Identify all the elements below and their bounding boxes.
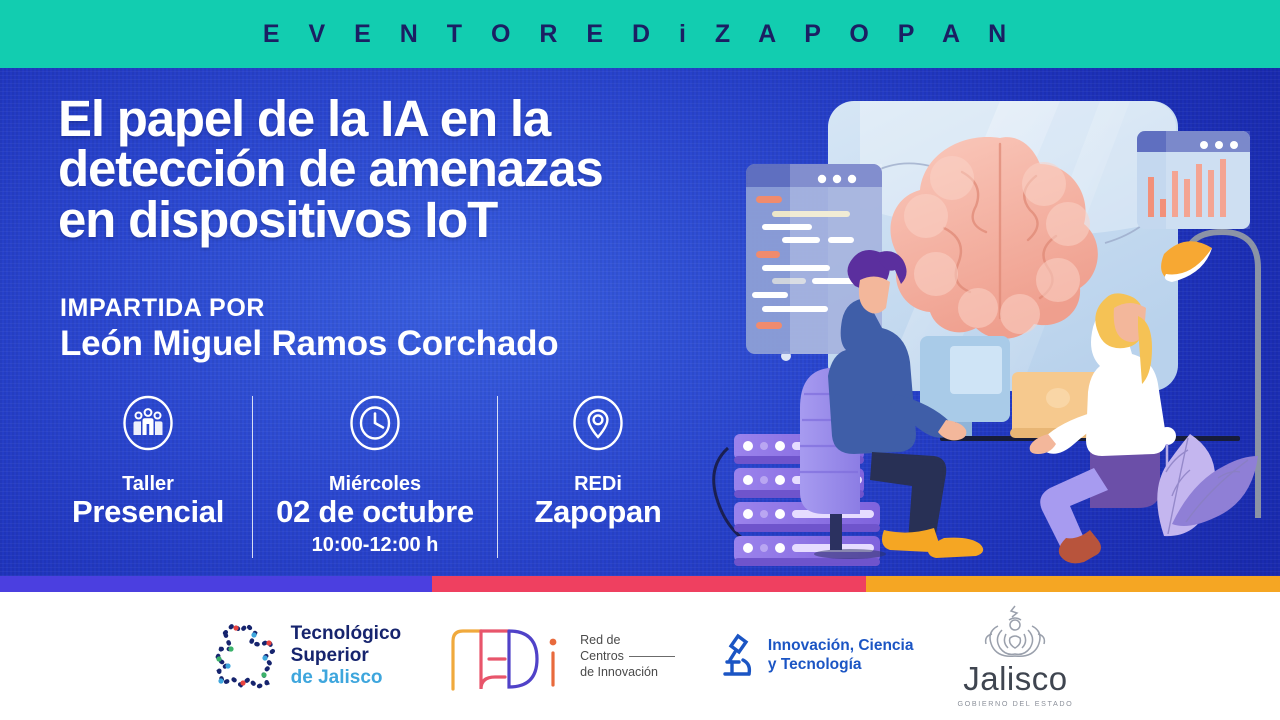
logo-tecnologico-superior-de-jalisco: Tecnológico Superior de Jalisco — [207, 619, 401, 693]
day-label: Miércoles — [329, 473, 421, 495]
venue-value: Zapopan — [534, 495, 661, 529]
plant — [1157, 427, 1258, 536]
redi-line-3: de Innovación — [580, 664, 658, 680]
jalisco-coat-of-arms-icon — [976, 604, 1054, 660]
detail-modality: Taller Presencial — [44, 394, 252, 529]
event-poster: E V E N T O R E D i Z A P O P A N El pap… — [0, 0, 1280, 720]
strip-segment-purple — [0, 576, 432, 592]
strip-segment-orange — [866, 576, 1280, 592]
page-title: El papel de la IA en la detección de ame… — [58, 94, 758, 245]
brand-color-strip — [0, 576, 1280, 592]
microscope-icon — [719, 630, 759, 682]
poster-body: El papel de la IA en la detección de ame… — [0, 68, 1280, 584]
tsj-line-2: Superior — [291, 645, 401, 667]
modality-value: Presencial — [72, 495, 224, 529]
title-line-3: en dispositivos IoT — [58, 195, 758, 245]
venue-label: REDi — [574, 473, 622, 495]
ict-line-1: Innovación, Ciencia — [768, 637, 914, 656]
jalisco-map-dots-icon — [207, 619, 283, 693]
event-details-row: Taller Presencial Miércoles 02 de octubr… — [44, 394, 704, 569]
strip-segment-red — [432, 576, 866, 592]
title-line-1: El papel de la IA en la — [58, 94, 758, 144]
jalisco-subtitle: GOBIERNO DEL ESTADO — [957, 699, 1073, 708]
speaker-name: León Miguel Ramos Corchado — [60, 324, 558, 364]
tsj-line-3: de Jalisco — [291, 667, 401, 689]
redi-rule — [629, 656, 675, 657]
title-line-2: detección de amenazas — [58, 144, 758, 194]
logo-innovacion-ciencia-tecnologia: Innovación, Ciencia y Tecnología — [719, 630, 914, 682]
detail-location: REDi Zapopan — [498, 394, 698, 529]
detail-datetime: Miércoles 02 de octubre 10:00-12:00 h — [253, 394, 497, 558]
modality-small-label: Taller — [122, 473, 174, 495]
speaker-label: IMPARTIDA POR — [60, 294, 265, 323]
redi-wordmark-icon — [445, 619, 571, 693]
clock-icon — [348, 394, 402, 452]
redi-line-1: Red de — [580, 632, 620, 648]
ict-line-2: y Tecnología — [768, 656, 914, 675]
top-banner: E V E N T O R E D i Z A P O P A N — [0, 0, 1280, 68]
date-value: 02 de octubre — [276, 495, 474, 529]
time-value: 10:00-12:00 h — [312, 532, 439, 558]
people-group-icon — [121, 394, 175, 452]
ai-iot-teamwork-illustration — [700, 68, 1280, 584]
tsj-line-1: Tecnológico — [291, 623, 401, 645]
logo-jalisco-gobierno: Jalisco GOBIERNO DEL ESTADO — [957, 604, 1073, 708]
location-pin-icon — [571, 394, 625, 452]
jalisco-name: Jalisco — [963, 662, 1067, 695]
logo-redi: Red de Centros de Innovación — [445, 619, 675, 693]
chart-window — [1137, 131, 1250, 229]
redi-line-2: Centros — [580, 648, 624, 664]
footer-logos: Tecnológico Superior de Jalisco Red de — [0, 592, 1280, 720]
top-banner-text: E V E N T O R E D i Z A P O P A N — [263, 20, 1017, 49]
